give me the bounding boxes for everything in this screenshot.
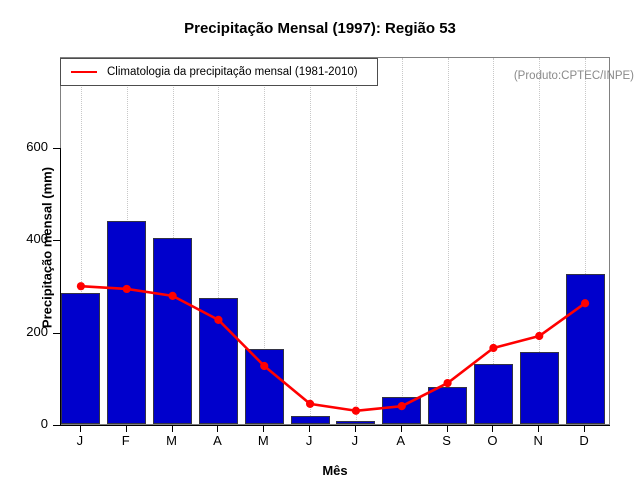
x-tick-7: [401, 425, 402, 432]
x-tick-4: [263, 425, 264, 432]
x-tick-11: [584, 425, 585, 432]
x-tick-8: [447, 425, 448, 432]
climatology-line-layer: [61, 58, 610, 425]
x-tick-label-11: D: [569, 433, 599, 448]
x-tick-2: [172, 425, 173, 432]
product-annotation: (Produto:CPTEC/INPE): [514, 70, 634, 82]
chart-root: Precipitação Mensal (1997): Região 53 02…: [0, 0, 640, 500]
x-tick-label-9: O: [477, 433, 507, 448]
x-tick-1: [126, 425, 127, 432]
climatology-point-0: [77, 282, 85, 290]
climatology-point-9: [489, 344, 497, 352]
climatology-point-5: [306, 400, 314, 408]
climatology-point-10: [535, 332, 543, 340]
climatology-point-6: [352, 407, 360, 415]
x-tick-label-8: S: [432, 433, 462, 448]
x-tick-label-10: N: [523, 433, 553, 448]
x-tick-label-7: A: [386, 433, 416, 448]
climatology-point-3: [214, 316, 222, 324]
y-tick-0: [53, 425, 60, 426]
climatology-point-11: [581, 299, 589, 307]
x-tick-label-3: A: [202, 433, 232, 448]
climatology-point-8: [443, 379, 451, 387]
y-axis-title: Precipitação mensal (mm): [40, 108, 55, 388]
x-axis-title: Mês: [60, 463, 610, 478]
legend-line-swatch-icon: [71, 71, 97, 73]
x-tick-label-2: M: [157, 433, 187, 448]
climatology-point-1: [123, 285, 131, 293]
x-tick-10: [538, 425, 539, 432]
x-axis-line: [60, 425, 610, 426]
climatology-point-7: [398, 402, 406, 410]
x-tick-5: [309, 425, 310, 432]
x-tick-0: [80, 425, 81, 432]
y-tick-label-0: 0: [41, 416, 48, 431]
legend: Climatologia da precipitação mensal (198…: [60, 58, 378, 86]
climatology-point-4: [260, 362, 268, 370]
climatology-point-2: [168, 292, 176, 300]
climatology-line: [81, 286, 585, 411]
y-axis-line: [60, 148, 61, 425]
x-tick-9: [492, 425, 493, 432]
x-tick-6: [355, 425, 356, 432]
legend-entry-label: Climatologia da precipitação mensal (198…: [107, 66, 358, 78]
x-tick-label-0: J: [65, 433, 95, 448]
x-tick-label-6: J: [340, 433, 370, 448]
x-tick-3: [217, 425, 218, 432]
plot-area: [60, 57, 610, 425]
chart-title: Precipitação Mensal (1997): Região 53: [0, 20, 640, 37]
x-tick-label-4: M: [248, 433, 278, 448]
x-tick-label-5: J: [294, 433, 324, 448]
x-tick-label-1: F: [111, 433, 141, 448]
